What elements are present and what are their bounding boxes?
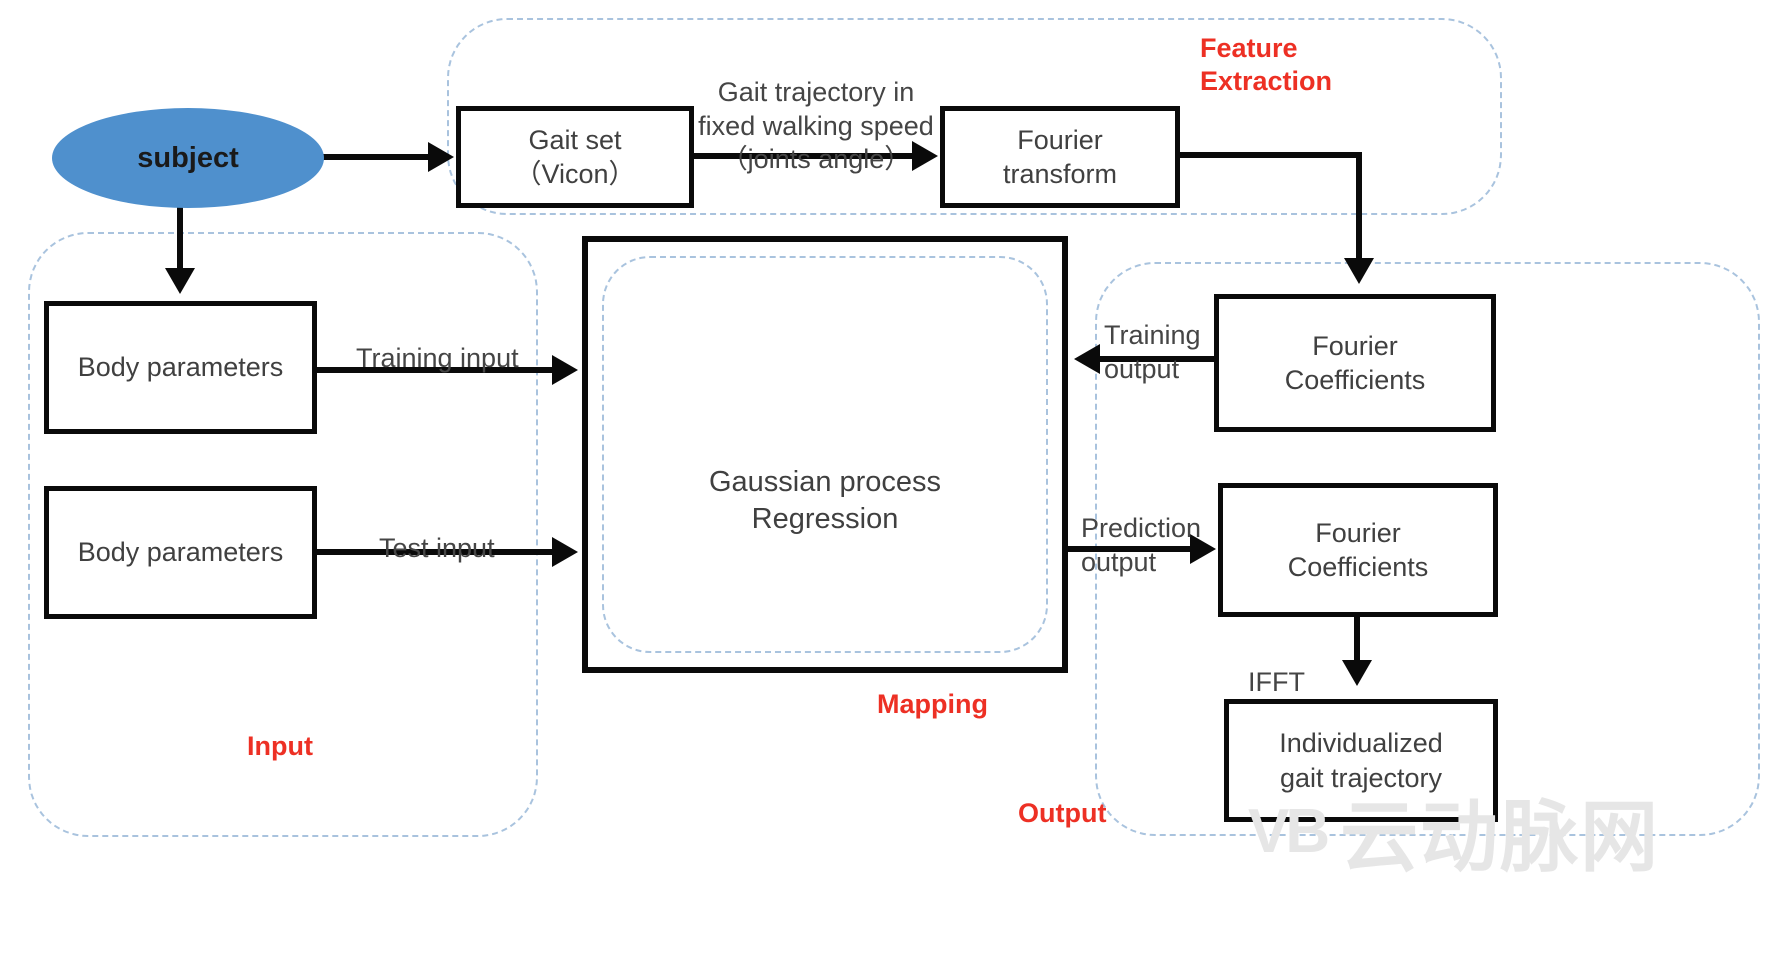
region-label-input: Input [247, 730, 313, 763]
arrowhead-fourier-transform-to-coefficients [1344, 258, 1374, 284]
edge-label-training-input-text: Training input [356, 343, 519, 373]
connector-subject-to-body-parameters [177, 205, 183, 271]
node-fourier-transform-label: Fourier transform [1003, 123, 1117, 191]
node-gaussian-process-regression-label: Gaussian process Regression [709, 466, 941, 534]
diagram-canvas: Feature Extraction Input Mapping Output … [0, 0, 1772, 973]
node-individualized-gait-trajectory[interactable]: Individualized gait trajectory [1224, 699, 1498, 822]
edge-label-gait-trajectory: Gait trajectory in fixed walking speed （… [672, 42, 960, 177]
arrowhead-subject-to-gait-set [428, 142, 454, 172]
connector-fourier-transform-right [1180, 152, 1362, 158]
edge-label-gait-trajectory-text: Gait trajectory in fixed walking speed （… [698, 77, 934, 175]
node-subject-label: subject [137, 142, 239, 175]
edge-label-training-output-text: Training output [1104, 320, 1201, 384]
node-gait-set-label: Gait set （Vicon） [514, 123, 635, 191]
edge-label-prediction-output-text: Prediction output [1081, 513, 1201, 577]
edge-label-test-input-text: Test input [379, 533, 495, 563]
node-fourier-transform[interactable]: Fourier transform [940, 106, 1180, 208]
arrowhead-test-input [552, 537, 578, 567]
node-subject[interactable]: subject [52, 108, 324, 208]
node-fourier-coefficients-training[interactable]: Fourier Coefficients [1214, 294, 1496, 432]
connector-ifft [1354, 614, 1360, 664]
arrowhead-ifft [1342, 660, 1372, 686]
region-label-feature-extraction: Feature Extraction [1200, 32, 1332, 98]
node-fourier-coefficients-prediction[interactable]: Fourier Coefficients [1218, 483, 1498, 617]
edge-label-training-output: Training output [1104, 285, 1201, 386]
node-fourier-coefficients-training-label: Fourier Coefficients [1285, 329, 1426, 397]
region-label-output: Output [1018, 797, 1106, 830]
connector-fourier-transform-down [1356, 152, 1362, 262]
node-gait-set[interactable]: Gait set （Vicon） [456, 106, 694, 208]
arrowhead-training-output [1074, 344, 1100, 374]
node-fourier-coefficients-prediction-label: Fourier Coefficients [1288, 516, 1429, 584]
edge-label-ifft: IFFT [1248, 632, 1305, 700]
edge-label-prediction-output: Prediction output [1081, 478, 1201, 579]
node-gaussian-process-regression[interactable]: Gaussian process Regression [682, 428, 968, 537]
node-body-parameters-training[interactable]: Body parameters [44, 301, 317, 434]
node-body-parameters-test[interactable]: Body parameters [44, 486, 317, 619]
node-individualized-gait-trajectory-label: Individualized gait trajectory [1279, 726, 1443, 794]
edge-label-ifft-text: IFFT [1248, 667, 1305, 697]
node-body-parameters-training-label: Body parameters [78, 350, 284, 384]
edge-label-test-input: Test input [379, 498, 495, 566]
arrowhead-training-input [552, 355, 578, 385]
edge-label-training-input: Training input [356, 308, 519, 376]
node-body-parameters-test-label: Body parameters [78, 535, 284, 569]
connector-subject-to-gait-set [322, 154, 430, 160]
arrowhead-subject-to-body-parameters [165, 268, 195, 294]
region-label-mapping: Mapping [877, 688, 988, 721]
